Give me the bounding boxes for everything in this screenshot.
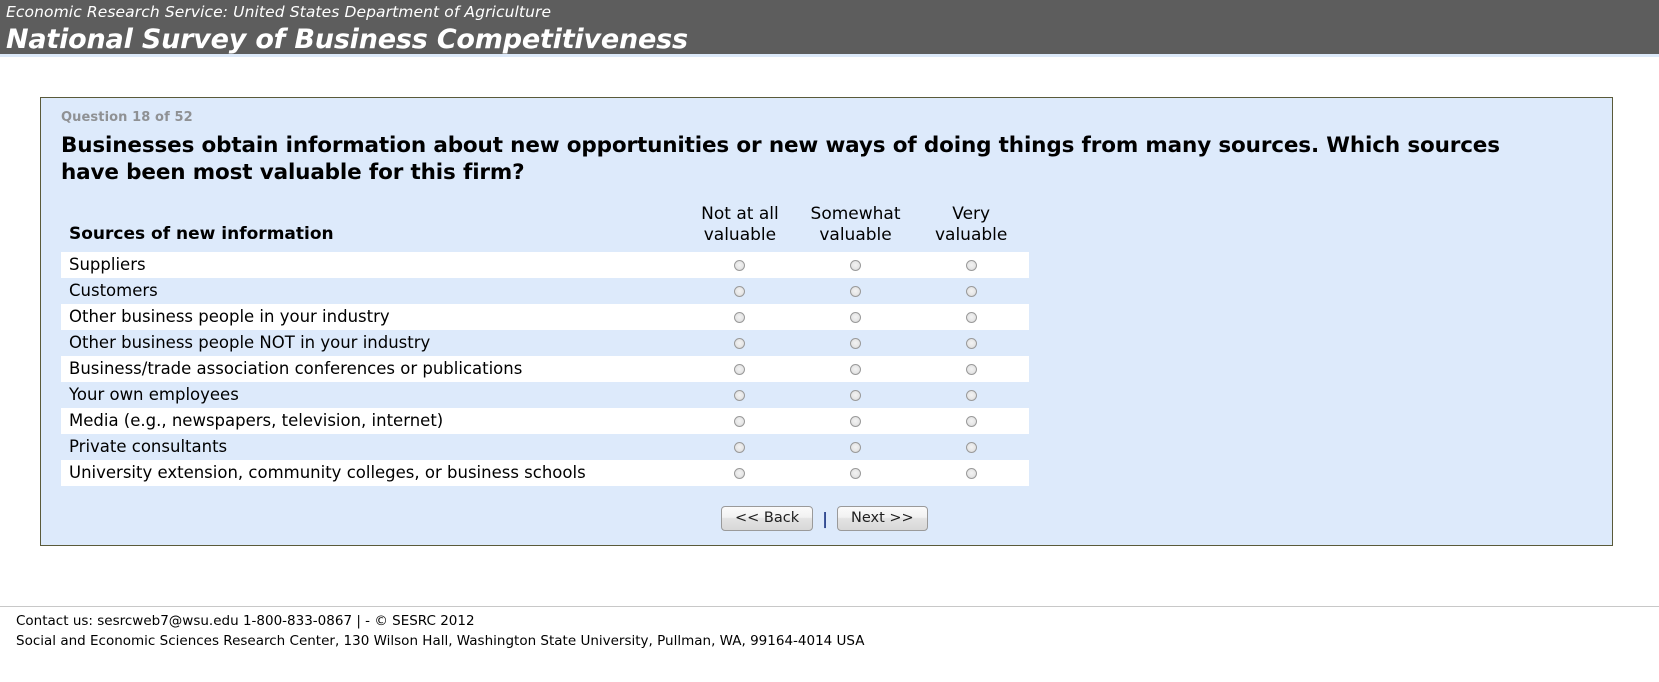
radio-button[interactable]: [966, 364, 977, 375]
grid-row-label: Business/trade association conferences o…: [61, 356, 682, 382]
grid-radio-cell[interactable]: [913, 278, 1029, 304]
column-header-line-2: valuable: [704, 225, 776, 245]
response-grid: Sources of new information Not at all va…: [61, 204, 1029, 486]
radio-button[interactable]: [966, 286, 977, 297]
grid-radio-cell[interactable]: [913, 408, 1029, 434]
column-header-line-1: Somewhat: [811, 204, 901, 224]
radio-button[interactable]: [734, 390, 745, 401]
grid-radio-cell[interactable]: [682, 434, 798, 460]
grid-row-label: Media (e.g., newspapers, television, int…: [61, 408, 682, 434]
grid-row: Media (e.g., newspapers, television, int…: [61, 408, 1029, 434]
grid-radio-cell[interactable]: [913, 252, 1029, 278]
radio-button[interactable]: [850, 390, 861, 401]
radio-button[interactable]: [734, 260, 745, 271]
footer-contact-line: Contact us: sesrcweb7@wsu.edu 1-800-833-…: [16, 611, 1659, 631]
next-button[interactable]: Next >>: [837, 506, 928, 531]
grid-row: University extension, community colleges…: [61, 460, 1029, 486]
grid-row: Suppliers: [61, 252, 1029, 278]
column-header-line-1: Not at all: [701, 204, 779, 224]
footer-address-line: Social and Economic Sciences Research Ce…: [16, 631, 1659, 651]
back-button[interactable]: << Back: [721, 506, 813, 531]
site-title: National Survey of Business Competitiven…: [6, 23, 1659, 56]
grid-row-label: Suppliers: [61, 252, 682, 278]
grid-radio-cell[interactable]: [913, 356, 1029, 382]
grid-radio-cell[interactable]: [798, 434, 914, 460]
grid-radio-cell[interactable]: [913, 330, 1029, 356]
grid-row-header-label: Sources of new information: [61, 204, 682, 252]
grid-radio-cell[interactable]: [682, 408, 798, 434]
grid-row: Other business people NOT in your indust…: [61, 330, 1029, 356]
grid-row-label: Other business people in your industry: [61, 304, 682, 330]
radio-button[interactable]: [850, 338, 861, 349]
grid-radio-cell[interactable]: [798, 382, 914, 408]
radio-button[interactable]: [734, 416, 745, 427]
grid-radio-cell[interactable]: [798, 304, 914, 330]
grid-row-label: Customers: [61, 278, 682, 304]
radio-button[interactable]: [734, 286, 745, 297]
grid-radio-cell[interactable]: [682, 304, 798, 330]
radio-button[interactable]: [734, 364, 745, 375]
radio-button[interactable]: [850, 286, 861, 297]
grid-column-header-very-valuable: Very valuable: [913, 204, 1029, 252]
grid-row-label: Your own employees: [61, 382, 682, 408]
grid-header-row: Sources of new information Not at all va…: [61, 204, 1029, 252]
grid-radio-cell[interactable]: [913, 382, 1029, 408]
radio-button[interactable]: [734, 468, 745, 479]
grid-body: SuppliersCustomersOther business people …: [61, 252, 1029, 486]
nav-separator: |: [822, 511, 828, 527]
radio-button[interactable]: [966, 442, 977, 453]
site-footer: Contact us: sesrcweb7@wsu.edu 1-800-833-…: [0, 611, 1659, 651]
grid-row: Business/trade association conferences o…: [61, 356, 1029, 382]
grid-row: Customers: [61, 278, 1029, 304]
grid-row-label: Other business people NOT in your indust…: [61, 330, 682, 356]
grid-header: Sources of new information Not at all va…: [61, 204, 1029, 252]
radio-button[interactable]: [850, 260, 861, 271]
radio-button[interactable]: [734, 338, 745, 349]
grid-row: Other business people in your industry: [61, 304, 1029, 330]
site-header: Economic Research Service: United States…: [0, 0, 1659, 57]
grid-radio-cell[interactable]: [798, 252, 914, 278]
grid-radio-cell[interactable]: [682, 460, 798, 486]
grid-radio-cell[interactable]: [913, 304, 1029, 330]
grid-row: Your own employees: [61, 382, 1029, 408]
grid-radio-cell[interactable]: [798, 408, 914, 434]
nav-row: << Back | Next >>: [61, 506, 1592, 531]
panel-wrap: Question 18 of 52 Businesses obtain info…: [0, 57, 1659, 546]
question-panel: Question 18 of 52 Businesses obtain info…: [40, 97, 1613, 546]
column-header-line-2: valuable: [935, 225, 1007, 245]
column-header-line-2: valuable: [819, 225, 891, 245]
grid-radio-cell[interactable]: [798, 356, 914, 382]
question-counter: Question 18 of 52: [61, 110, 1592, 125]
grid-row-label: Private consultants: [61, 434, 682, 460]
radio-button[interactable]: [966, 468, 977, 479]
radio-button[interactable]: [850, 416, 861, 427]
footer-divider: [0, 606, 1659, 607]
column-header-line-1: Very: [952, 204, 990, 224]
radio-button[interactable]: [734, 312, 745, 323]
grid-radio-cell[interactable]: [798, 330, 914, 356]
question-text: Businesses obtain information about new …: [61, 132, 1511, 186]
radio-button[interactable]: [966, 390, 977, 401]
grid-radio-cell[interactable]: [798, 460, 914, 486]
agency-line: Economic Research Service: United States…: [6, 3, 1659, 22]
grid-column-header-not-at-all-valuable: Not at all valuable: [682, 204, 798, 252]
radio-button[interactable]: [734, 442, 745, 453]
grid-column-header-somewhat-valuable: Somewhat valuable: [798, 204, 914, 252]
radio-button[interactable]: [966, 416, 977, 427]
grid-radio-cell[interactable]: [682, 382, 798, 408]
radio-button[interactable]: [850, 364, 861, 375]
radio-button[interactable]: [850, 312, 861, 323]
radio-button[interactable]: [966, 338, 977, 349]
grid-radio-cell[interactable]: [682, 252, 798, 278]
radio-button[interactable]: [966, 260, 977, 271]
grid-radio-cell[interactable]: [682, 356, 798, 382]
grid-radio-cell[interactable]: [913, 434, 1029, 460]
grid-row: Private consultants: [61, 434, 1029, 460]
radio-button[interactable]: [850, 468, 861, 479]
grid-radio-cell[interactable]: [913, 460, 1029, 486]
grid-radio-cell[interactable]: [682, 330, 798, 356]
radio-button[interactable]: [966, 312, 977, 323]
grid-radio-cell[interactable]: [682, 278, 798, 304]
radio-button[interactable]: [850, 442, 861, 453]
grid-row-label: University extension, community colleges…: [61, 460, 682, 486]
grid-radio-cell[interactable]: [798, 278, 914, 304]
